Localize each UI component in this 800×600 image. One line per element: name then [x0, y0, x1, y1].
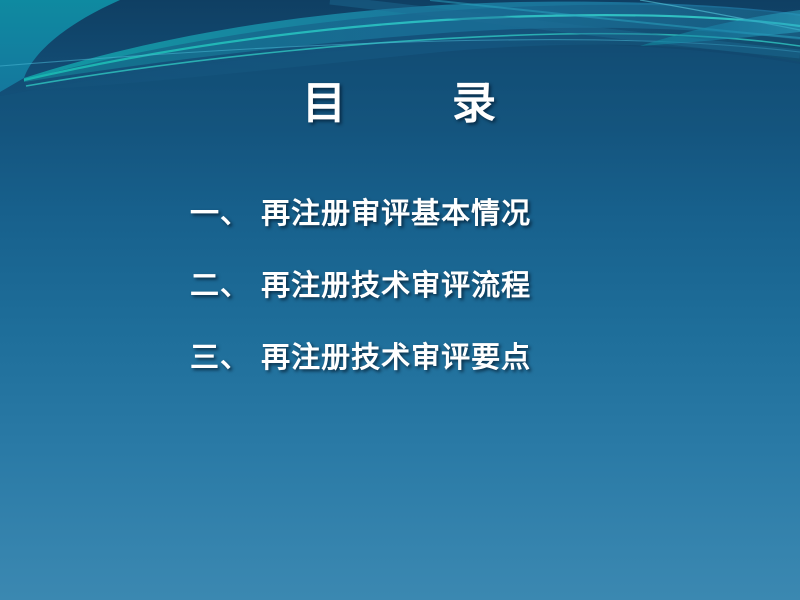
toc-item-2[interactable]: 二、 再注册技术审评流程: [190, 268, 750, 302]
wave-shape-right-flare: [640, 10, 800, 46]
wave-highlight-cyan-1: [24, 15, 800, 80]
slide-title: 目 录: [0, 78, 800, 130]
wave-arc-upper-right-filament: [640, 0, 800, 30]
table-of-contents: 一、 再注册审评基本情况 二、 再注册技术审评流程 三、 再注册技术审评要点: [190, 196, 750, 374]
wave-arc-upper-right-thin: [430, 0, 800, 38]
wave-highlight-lightblue: [0, 40, 800, 66]
toc-item-3[interactable]: 三、 再注册技术审评要点: [190, 340, 750, 374]
toc-item-1[interactable]: 一、 再注册审评基本情况: [190, 196, 750, 230]
presentation-slide: 目 录 一、 再注册审评基本情况 二、 再注册技术审评流程 三、 再注册技术审评…: [0, 0, 800, 600]
wave-shape-teal-ribbon: [24, 2, 800, 82]
wave-arc-upper-right: [330, 0, 800, 54]
